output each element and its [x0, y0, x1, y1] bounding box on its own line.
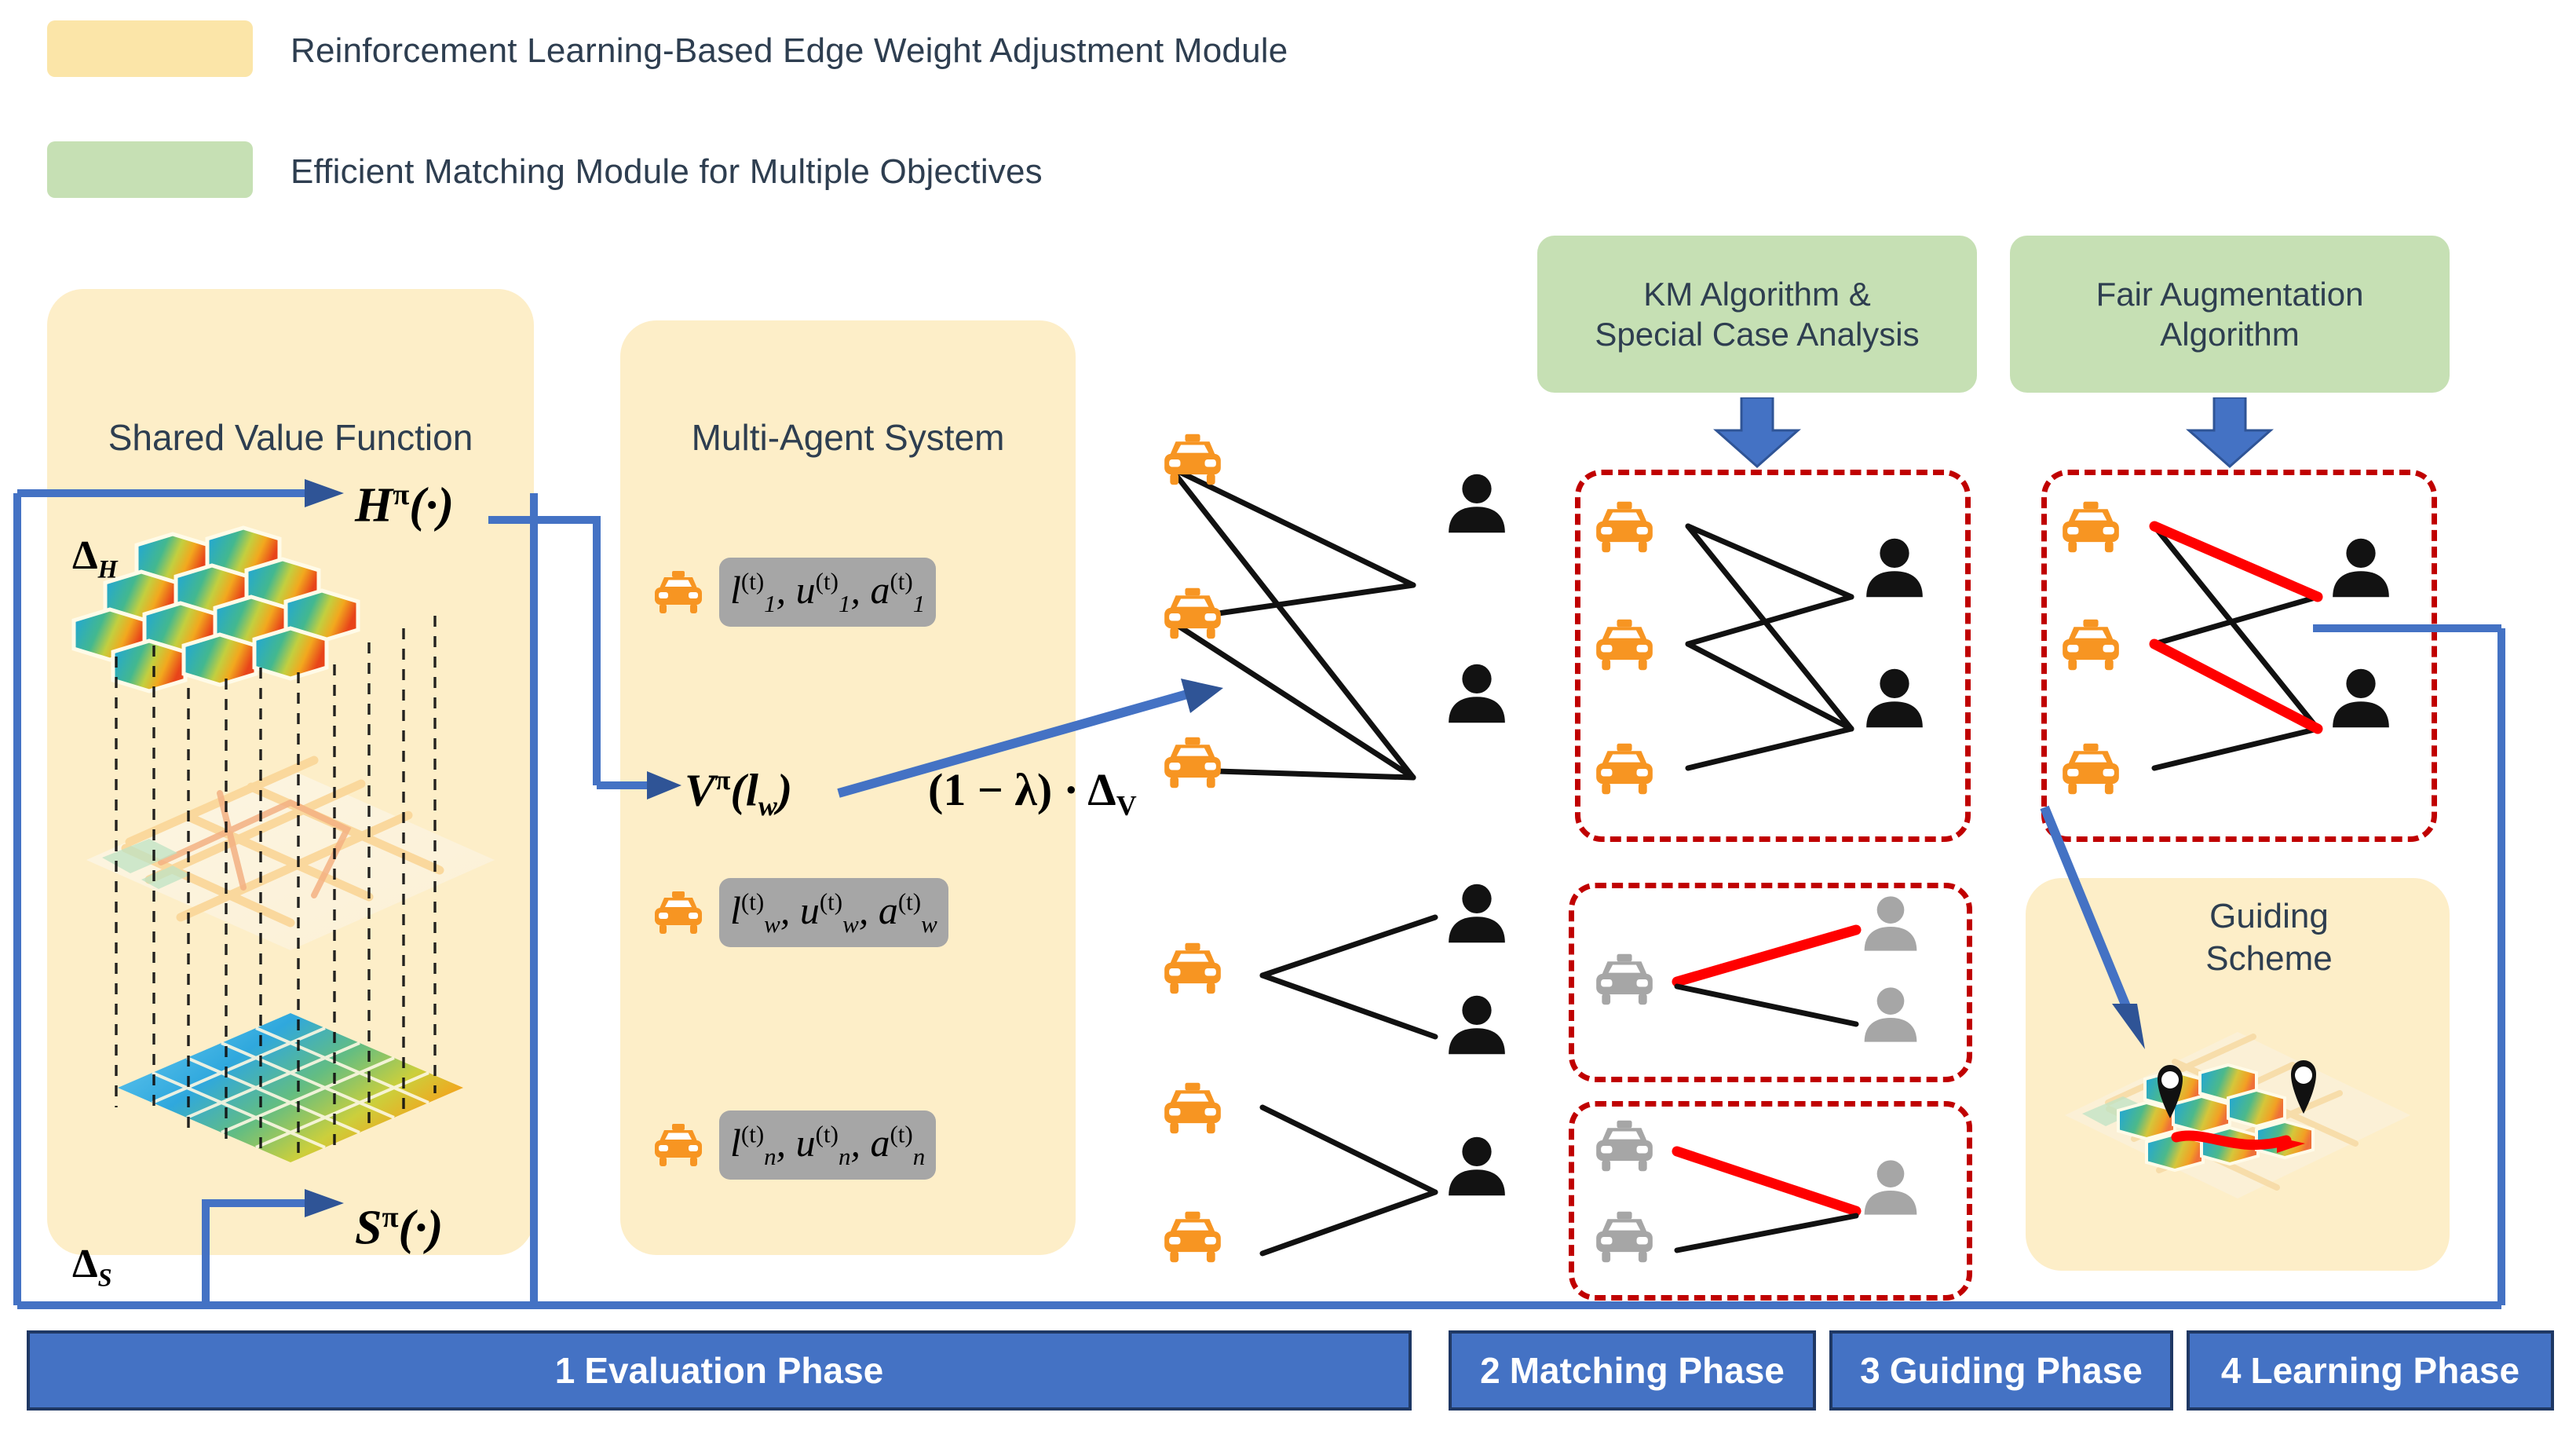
- phase-label-4: Learning Phase: [2251, 1349, 2520, 1392]
- person-icon: [1861, 664, 1928, 732]
- delta-s-label: ΔS: [72, 1241, 112, 1292]
- phase-label-2: Matching Phase: [1510, 1349, 1785, 1392]
- value-function-layers-graphic: [55, 510, 526, 1217]
- person-icon-grayed: [1859, 892, 1922, 955]
- legend-swatch-rl: [47, 20, 253, 77]
- phase-label-3: Guiding Phase: [1890, 1349, 2143, 1392]
- person-icon-grayed: [1859, 983, 1922, 1046]
- taxi-icon: [1159, 1081, 1226, 1136]
- taxi-icon: [2057, 741, 2125, 796]
- taxi-icon: [2057, 617, 2125, 672]
- taxi-icon: [2057, 499, 2125, 554]
- down-arrow-icon-fair: [2183, 397, 2277, 468]
- agent-state-math-1: l(t)1, u(t)1, a(t)1: [730, 567, 925, 618]
- guiding-scheme-label: Guiding Scheme: [2151, 895, 2387, 979]
- phase-number-1: 1: [555, 1349, 575, 1392]
- km-algorithm-label: KM Algorithm & Special Case Analysis: [1595, 274, 1919, 354]
- legend: Reinforcement Learning-Based Edge Weight…: [47, 14, 1696, 132]
- taxi-icon: [1159, 432, 1226, 487]
- phase-number-4: 4: [2221, 1349, 2242, 1392]
- h-pi-output-label: Hπ(·): [355, 478, 454, 534]
- legend-label-rl: Reinforcement Learning-Based Edge Weight…: [290, 31, 1288, 71]
- phase-number-2: 2: [1480, 1349, 1500, 1392]
- agent-state-math-n: l(t)n, u(t)n, a(t)n: [730, 1120, 925, 1171]
- down-arrow-icon-km: [1710, 397, 1804, 468]
- person-icon-grayed: [1859, 1156, 1922, 1219]
- phase-label-1: Evaluation Phase: [584, 1349, 883, 1392]
- person-icon: [1443, 470, 1511, 537]
- s-pi-output-label: Sπ(·): [355, 1200, 443, 1257]
- taxi-icon: [650, 1122, 707, 1168]
- person-icon: [1443, 880, 1511, 947]
- agent-state-chip-1: l(t)1, u(t)1, a(t)1: [719, 558, 936, 627]
- legend-label-matching: Efficient Matching Module for Multiple O…: [290, 152, 1043, 192]
- person-icon: [1443, 660, 1511, 727]
- taxi-icon: [650, 890, 707, 935]
- delta-h-label: ΔH: [72, 532, 118, 584]
- taxi-icon: [1159, 1209, 1226, 1264]
- phase-matching[interactable]: 2 Matching Phase: [1449, 1330, 1816, 1411]
- fair-augmentation-box: Fair Augmentation Algorithm: [2010, 236, 2450, 393]
- legend-swatch-matching: [47, 141, 253, 198]
- flow-arrow-matching-to-guiding: [2033, 801, 2175, 1060]
- agent-state-math-w: l(t)w, u(t)w, a(t)w: [730, 887, 937, 939]
- fair-augmentation-label: Fair Augmentation Algorithm: [2096, 274, 2364, 354]
- person-icon: [1443, 991, 1511, 1059]
- phase-learning[interactable]: 4 Learning Phase: [2187, 1330, 2554, 1411]
- taxi-icon-grayed: [1591, 1118, 1658, 1173]
- taxi-icon: [1159, 941, 1226, 996]
- shared-value-function-title: Shared Value Function: [49, 416, 532, 459]
- taxi-icon: [1159, 586, 1226, 641]
- taxi-icon: [1591, 499, 1658, 554]
- taxi-icon-grayed: [1591, 1209, 1658, 1264]
- taxi-icon: [1591, 741, 1658, 796]
- flow-arrow-mas-to-matching: [832, 677, 1240, 803]
- taxi-icon-grayed: [1591, 952, 1658, 1007]
- person-icon: [2327, 664, 2395, 732]
- multi-agent-system-title: Multi-Agent System: [622, 416, 1074, 459]
- agent-state-chip-w: l(t)w, u(t)w, a(t)w: [719, 878, 948, 947]
- agent-row-w: l(t)w, u(t)w, a(t)w: [650, 878, 948, 947]
- person-icon: [1861, 534, 1928, 602]
- phase-number-3: 3: [1860, 1349, 1880, 1392]
- person-icon: [1443, 1132, 1511, 1200]
- agent-state-chip-n: l(t)n, u(t)n, a(t)n: [719, 1111, 936, 1180]
- person-icon: [2327, 534, 2395, 602]
- phase-guiding[interactable]: 3 Guiding Phase: [1829, 1330, 2173, 1411]
- flow-arrow-svf-to-mas: [471, 503, 707, 832]
- km-algorithm-box: KM Algorithm & Special Case Analysis: [1537, 236, 1977, 393]
- phase-evaluation[interactable]: 1 Evaluation Phase: [27, 1330, 1412, 1411]
- agent-row-n: l(t)n, u(t)n, a(t)n: [650, 1111, 936, 1180]
- taxi-icon: [1591, 617, 1658, 672]
